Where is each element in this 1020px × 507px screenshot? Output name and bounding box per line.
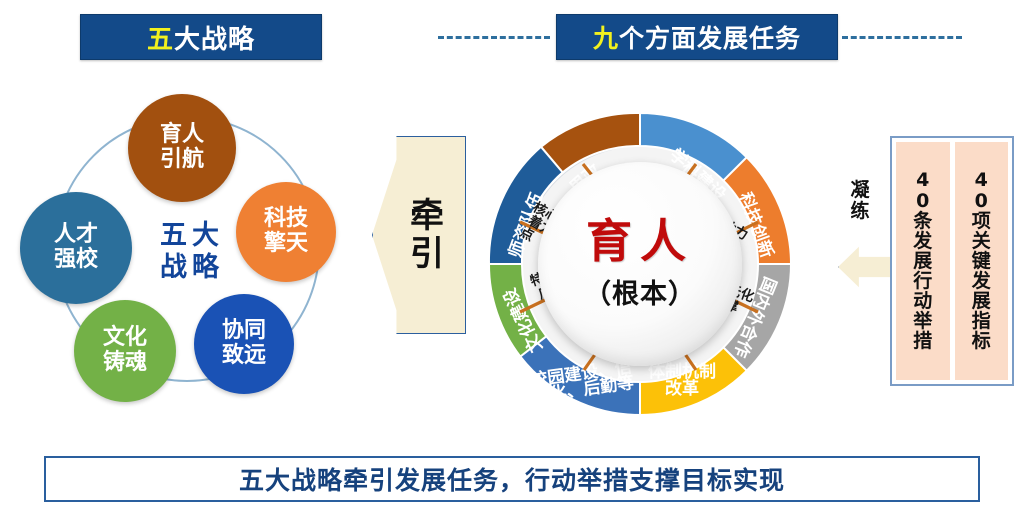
strategy-label-line2: 铸魂 <box>103 350 147 375</box>
dashed-connector-left <box>438 36 550 39</box>
strategy-circle-rencai-qiangxiao[interactable]: 人才 强校 <box>20 192 132 304</box>
condense-line1: 凝 <box>848 180 872 201</box>
strategy-circle-label: 协同 致远 <box>222 319 266 368</box>
strategy-label-line2: 致远 <box>222 343 266 368</box>
strategy-circle-yuren-yinhang[interactable]: 育人 引航 <box>128 94 236 202</box>
strategy-label-line1: 科技 <box>264 206 308 231</box>
indicators-panel: 40条发展行动举措 40项关键发展指标 <box>890 136 1014 386</box>
strategy-label-line1: 协同 <box>222 318 266 343</box>
condense-line2: 练 <box>848 201 872 222</box>
strategy-circle-label: 育人 引航 <box>160 123 204 172</box>
header-right-rest-text: 个方面发展任务 <box>619 24 801 53</box>
header-left-highlight-char: 五 <box>147 25 174 55</box>
pull-arrow-line2: 引 <box>410 235 444 273</box>
header-banner-nine-tasks: 九个方面发展任务 <box>556 14 838 60</box>
condense-arrow-icon <box>838 244 896 290</box>
pull-arrow-left: 牵 引 <box>372 136 466 334</box>
strategy-label-line2: 擎天 <box>264 231 308 256</box>
strategy-circle-xietong-zhiyuan[interactable]: 协同 致远 <box>194 294 294 394</box>
bottom-summary-text: 五大战略牵引发展任务，行动举措支撑目标实现 <box>239 461 785 497</box>
header-right-highlight-char: 九 <box>593 24 619 53</box>
five-strategies-center-text: 五大 战略 <box>128 204 256 300</box>
bottom-summary-banner: 五大战略牵引发展任务，行动举措支撑目标实现 <box>44 456 980 502</box>
five-center-line2: 战略 <box>160 252 224 284</box>
wheel-core-yuren: 育人 （根本） <box>538 162 742 366</box>
pull-arrow-line1: 牵 <box>410 197 444 235</box>
strategy-label-line1: 育人 <box>160 122 204 147</box>
indicator-column-metrics[interactable]: 40项关键发展指标 <box>955 142 1009 380</box>
strategy-circle-label: 文化 铸魂 <box>103 326 147 375</box>
condense-label: 凝 练 <box>848 180 872 222</box>
strategy-label-line2: 强校 <box>54 247 98 272</box>
header-left-rest-text: 大战略 <box>174 25 255 55</box>
header-banner-left-text: 五大战略 <box>147 19 255 56</box>
strategy-label-line2: 引航 <box>160 147 204 172</box>
indicator-column-metrics-text: 40项关键发展指标 <box>972 170 991 351</box>
indicator-column-actions[interactable]: 40条发展行动举措 <box>896 142 950 380</box>
strategy-circle-label: 人才 强校 <box>54 223 98 272</box>
strategy-label-line1: 人才 <box>54 222 98 247</box>
wheel-core-sub-text: （根本） <box>584 272 696 311</box>
header-banner-five-strategies: 五大战略 <box>80 14 322 60</box>
strategy-circle-label: 科技 擎天 <box>264 207 308 256</box>
dashed-connector-right <box>842 36 962 39</box>
five-strategies-diagram: 育人 引航 科技 擎天 协同 致远 文化 铸魂 人才 强 <box>8 86 368 426</box>
slide-canvas: 五大战略 九个方面发展任务 育人 引航 科技 擎天 协同 致远 <box>0 0 1020 507</box>
strategy-circle-wenhua-zhuhun[interactable]: 文化 铸魂 <box>74 300 176 402</box>
wheel-core-main-text: 育人 <box>586 218 694 264</box>
five-center-line1: 五大 <box>160 220 224 252</box>
strategy-label-line1: 文化 <box>103 325 147 350</box>
pull-arrow-label: 牵 引 <box>410 197 444 273</box>
header-banner-right-text: 九个方面发展任务 <box>593 19 801 55</box>
indicator-column-actions-text: 40条发展行动举措 <box>913 170 932 351</box>
